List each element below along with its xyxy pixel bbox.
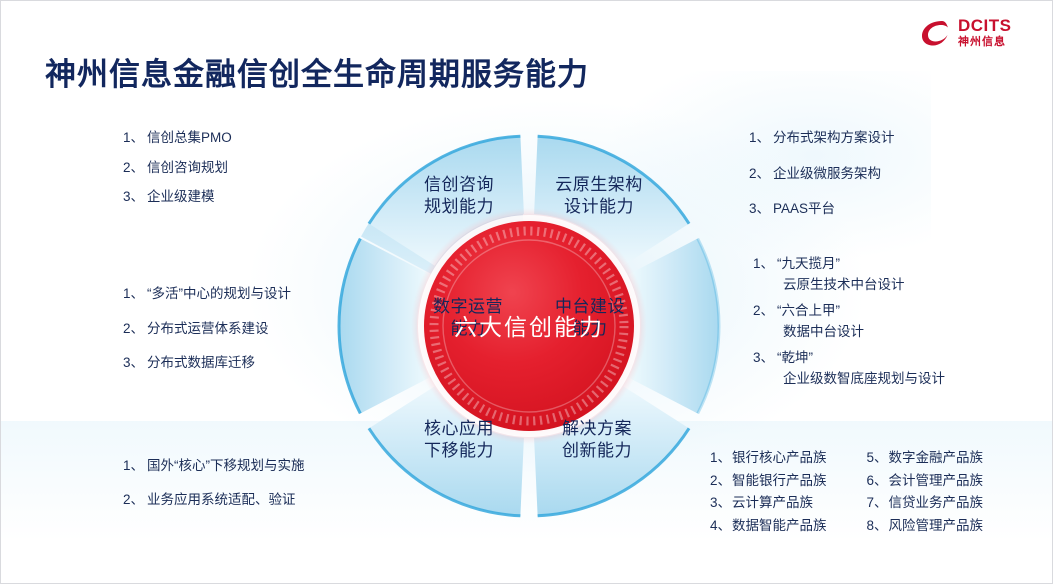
list-item-text: 数据智能产品族 — [732, 519, 827, 533]
list-item-text: 信贷业务产品族 — [889, 496, 984, 510]
center-label: 六大信创能力 — [429, 308, 629, 342]
list-item: 7、 信贷业务产品族 — [867, 496, 984, 510]
segment-label-line1: 解决方案 — [527, 418, 667, 440]
list-item-number: 8、 — [867, 519, 889, 533]
list-item-text: 分布式架构方案设计 — [773, 131, 895, 145]
list-item-text: 分布式数据库迁移 — [147, 356, 291, 370]
list-item: 3、 “乾坤” — [753, 351, 945, 365]
product-list-right-column: 5、 数字金融产品族 6、 会计管理产品族 7、 信贷业务产品族 8、 风险管理… — [867, 451, 984, 541]
text-block-bottom-left: 1、 国外“核心”下移规划与实施 2、 业务应用系统适配、验证 — [123, 459, 305, 526]
list-item: 5、 数字金融产品族 — [867, 451, 984, 465]
list-item: 3、 分布式数据库迁移 — [123, 356, 291, 370]
list-item: 1、 国外“核心”下移规划与实施 — [123, 459, 305, 473]
segment-label-line1: 核心应用 — [389, 418, 529, 440]
list-item-number: 7、 — [867, 496, 889, 510]
list-item-subtext: 数据中台设计 — [753, 325, 945, 339]
list-item: 8、 风险管理产品族 — [867, 519, 984, 533]
logo-wordmark: DCITS 神州信息 — [958, 17, 1012, 48]
list-item-text: “六合上甲” — [777, 304, 945, 318]
list-item-text: 数字金融产品族 — [889, 451, 984, 465]
list-item-number: 3、 — [753, 351, 777, 365]
logo-text-cn: 神州信息 — [958, 37, 1012, 48]
list-item-number: 1、 — [753, 257, 777, 271]
list-item-number: 1、 — [749, 131, 773, 145]
list-item-subtext: 云原生技术中台设计 — [753, 278, 945, 292]
list-item: 3、 企业级建模 — [123, 190, 232, 204]
list-item: 2、 业务应用系统适配、验证 — [123, 493, 305, 507]
segment-label-line2: 下移能力 — [389, 440, 529, 462]
segment-label-line2: 创新能力 — [527, 440, 667, 462]
list-item-text: 业务应用系统适配、验证 — [147, 493, 305, 507]
list-item-number: 2、 — [749, 167, 773, 181]
list-item: 2、 信创咨询规划 — [123, 161, 232, 175]
list-item-text: “九天揽月” — [777, 257, 945, 271]
list-item-text: 信创总集PMO — [147, 131, 232, 145]
text-block-bottom-right: 1、 银行核心产品族 2、 智能银行产品族 3、 云计算产品族 4、 数据智能产… — [710, 451, 983, 541]
list-item-text: 企业级微服务架构 — [773, 167, 895, 181]
list-item-text: 智能银行产品族 — [732, 474, 827, 488]
list-item-number: 3、 — [123, 190, 147, 204]
list-item: 6、 会计管理产品族 — [867, 474, 984, 488]
list-item-text: 信创咨询规划 — [147, 161, 232, 175]
list-item-number: 2、 — [753, 304, 777, 318]
list-item: 3、 PAAS平台 — [749, 202, 895, 216]
list-item: 1、 信创总集PMO — [123, 131, 232, 145]
list-item-number: 1、 — [123, 459, 147, 473]
list-item-number: 2、 — [123, 493, 147, 507]
list-item: 2、 “六合上甲” — [753, 304, 945, 318]
list-item: 1、 “九天揽月” — [753, 257, 945, 271]
list-item: 1、 分布式架构方案设计 — [749, 131, 895, 145]
list-item-number: 6、 — [867, 474, 889, 488]
list-item-text: PAAS平台 — [773, 202, 895, 216]
list-item: 2、 企业级微服务架构 — [749, 167, 895, 181]
list-item: 1、 “多活”中心的规划与设计 — [123, 287, 291, 301]
logo-text-en: DCITS — [958, 17, 1012, 34]
text-block-middle-left: 1、 “多活”中心的规划与设计 2、 分布式运营体系建设 3、 分布式数据库迁移 — [123, 287, 291, 391]
brand-logo: DCITS 神州信息 — [919, 17, 1012, 48]
page-title: 神州信息金融信创全生命周期服务能力 — [45, 49, 589, 94]
list-item: 2、 分布式运营体系建设 — [123, 322, 291, 336]
list-item-number: 3、 — [749, 202, 773, 216]
segment-label-consulting: 信创咨询 规划能力 — [389, 174, 529, 218]
segment-label-line1: 云原生架构 — [529, 174, 669, 196]
list-item-number: 1、 — [123, 131, 147, 145]
swoosh-icon — [919, 18, 951, 48]
list-item-number: 3、 — [123, 356, 147, 370]
list-item-text: “多活”中心的规划与设计 — [147, 287, 291, 301]
list-item-number: 2、 — [123, 161, 147, 175]
segment-label-cloudnative: 云原生架构 设计能力 — [529, 174, 669, 218]
list-item-text: “乾坤” — [777, 351, 945, 365]
slide-canvas: DCITS 神州信息 神州信息金融信创全生命周期服务能力 1、 信创总集PMO … — [0, 0, 1053, 584]
list-item-text: 国外“核心”下移规划与实施 — [147, 459, 305, 473]
text-block-top-right: 1、 分布式架构方案设计 2、 企业级微服务架构 3、 PAAS平台 — [749, 131, 895, 238]
list-item-text: 风险管理产品族 — [889, 519, 984, 533]
list-item-number: 5、 — [867, 451, 889, 465]
text-block-middle-right: 1、 “九天揽月” 云原生技术中台设计 2、 “六合上甲” 数据中台设计 3、 … — [753, 257, 945, 398]
segment-label-solution: 解决方案 创新能力 — [527, 418, 667, 462]
list-item-number: 1、 — [123, 287, 147, 301]
text-block-top-left: 1、 信创总集PMO 2、 信创咨询规划 3、 企业级建模 — [123, 131, 232, 220]
list-item-text: 银行核心产品族 — [732, 451, 827, 465]
segment-label-coreapp: 核心应用 下移能力 — [389, 418, 529, 462]
list-item-text: 云计算产品族 — [732, 496, 827, 510]
list-item-subtext: 企业级数智底座规划与设计 — [753, 372, 945, 386]
capability-donut-diagram: 信创咨询 规划能力 云原生架构 设计能力 中台建设 能力 解决方案 创新能力 核… — [329, 126, 729, 526]
segment-label-line1: 信创咨询 — [389, 174, 529, 196]
list-item-text: 分布式运营体系建设 — [147, 322, 291, 336]
segment-label-line2: 设计能力 — [529, 196, 669, 218]
list-item-text: 会计管理产品族 — [889, 474, 984, 488]
segment-label-line2: 规划能力 — [389, 196, 529, 218]
list-item-text: 企业级建模 — [147, 190, 232, 204]
list-item-number: 2、 — [123, 322, 147, 336]
